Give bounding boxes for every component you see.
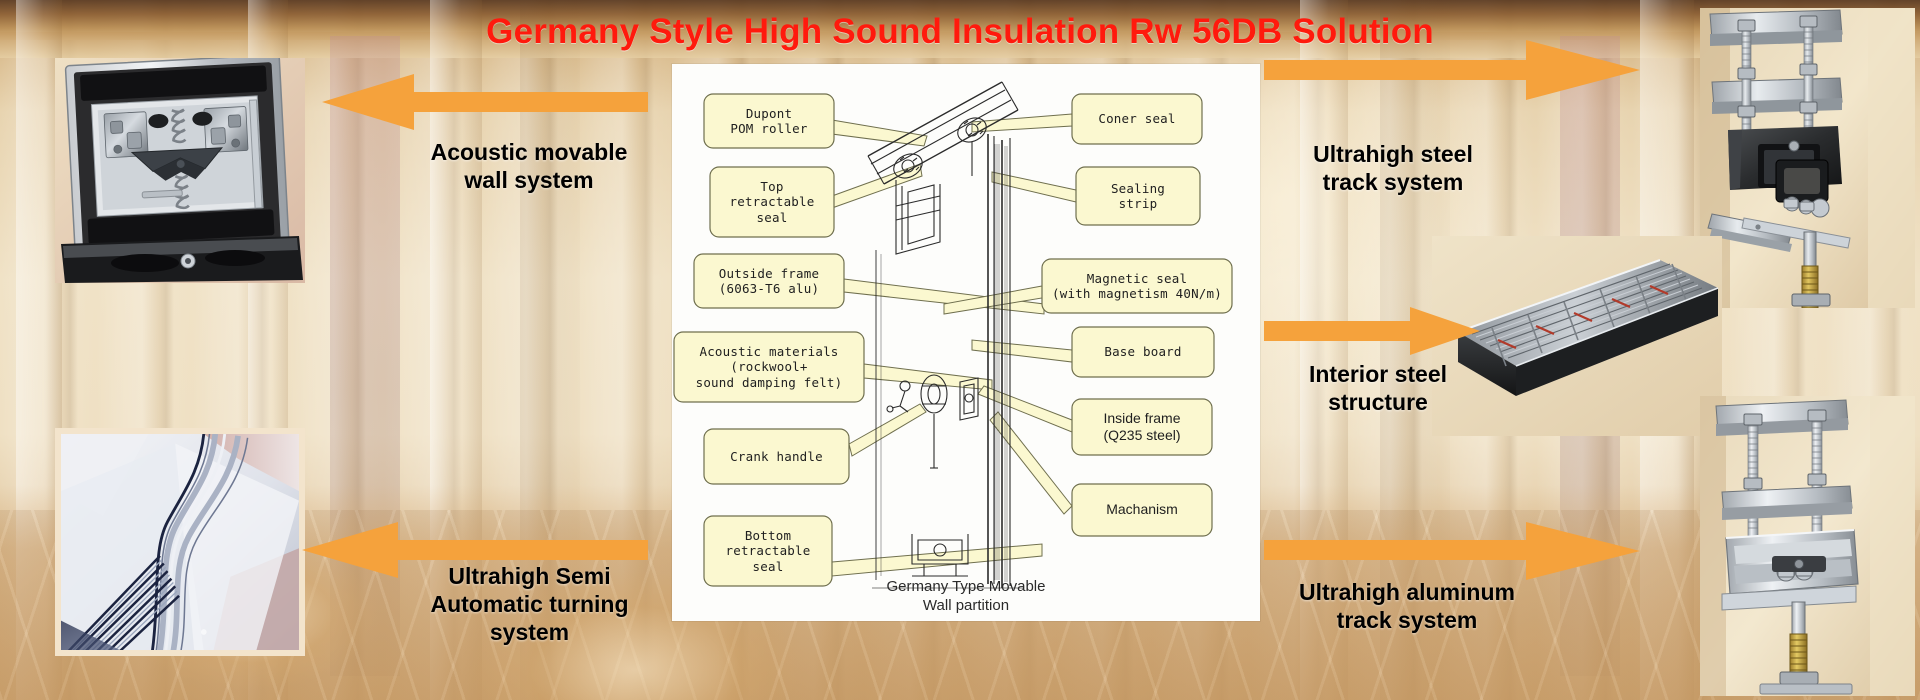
photo-aluminum-track (1700, 396, 1915, 696)
callout-ultrahigh-steel-track-system: Ultrahigh steel track system (1268, 140, 1518, 196)
callout-ultrahigh-aluminum-track-system: Ultrahigh aluminum track system (1262, 578, 1552, 634)
diagram-label-inside-frame (1072, 399, 1212, 455)
diagram-label-base-board (1072, 327, 1214, 377)
callout-interior-steel-structure: Interior steel structure (1258, 360, 1498, 416)
diagram-label-dupont-pom-roller (704, 94, 834, 148)
diagram-label-machanism (1072, 484, 1212, 536)
arrow-top-left (318, 72, 648, 132)
arrow-middle-right (1264, 305, 1484, 357)
diagram-label-top-retractable-seal (710, 167, 834, 237)
diagram-label-acoustic-materials (674, 332, 864, 402)
photo-steel-track (1700, 8, 1915, 308)
diagram-label-sealing-strip (1076, 167, 1200, 225)
arrow-top-right (1264, 38, 1644, 102)
photo-acoustic-panel-mechanism (55, 58, 305, 283)
diagram-label-crank-handle (704, 429, 849, 484)
diagram-label-coner-seal (1072, 94, 1202, 144)
technical-diagram-panel: .lbl{fill:#fbf8d0;stroke:#6f6f4e;stroke-… (672, 64, 1260, 621)
callout-acoustic-movable-wall-system: Acoustic movable wall system (404, 138, 654, 194)
diagram-label-outside-frame (694, 254, 844, 308)
photo-semi-automatic-turning (55, 428, 305, 656)
diagram-label-magnetic-seal (1042, 259, 1232, 313)
infographic-stage: Germany Style High Sound Insulation Rw 5… (0, 0, 1920, 700)
arrow-bottom-right (1264, 520, 1644, 582)
callout-ultrahigh-semi-automatic-turning-system: Ultrahigh Semi Automatic turning system (392, 562, 667, 646)
diagram-label-bottom-retractable-seal (704, 516, 832, 586)
